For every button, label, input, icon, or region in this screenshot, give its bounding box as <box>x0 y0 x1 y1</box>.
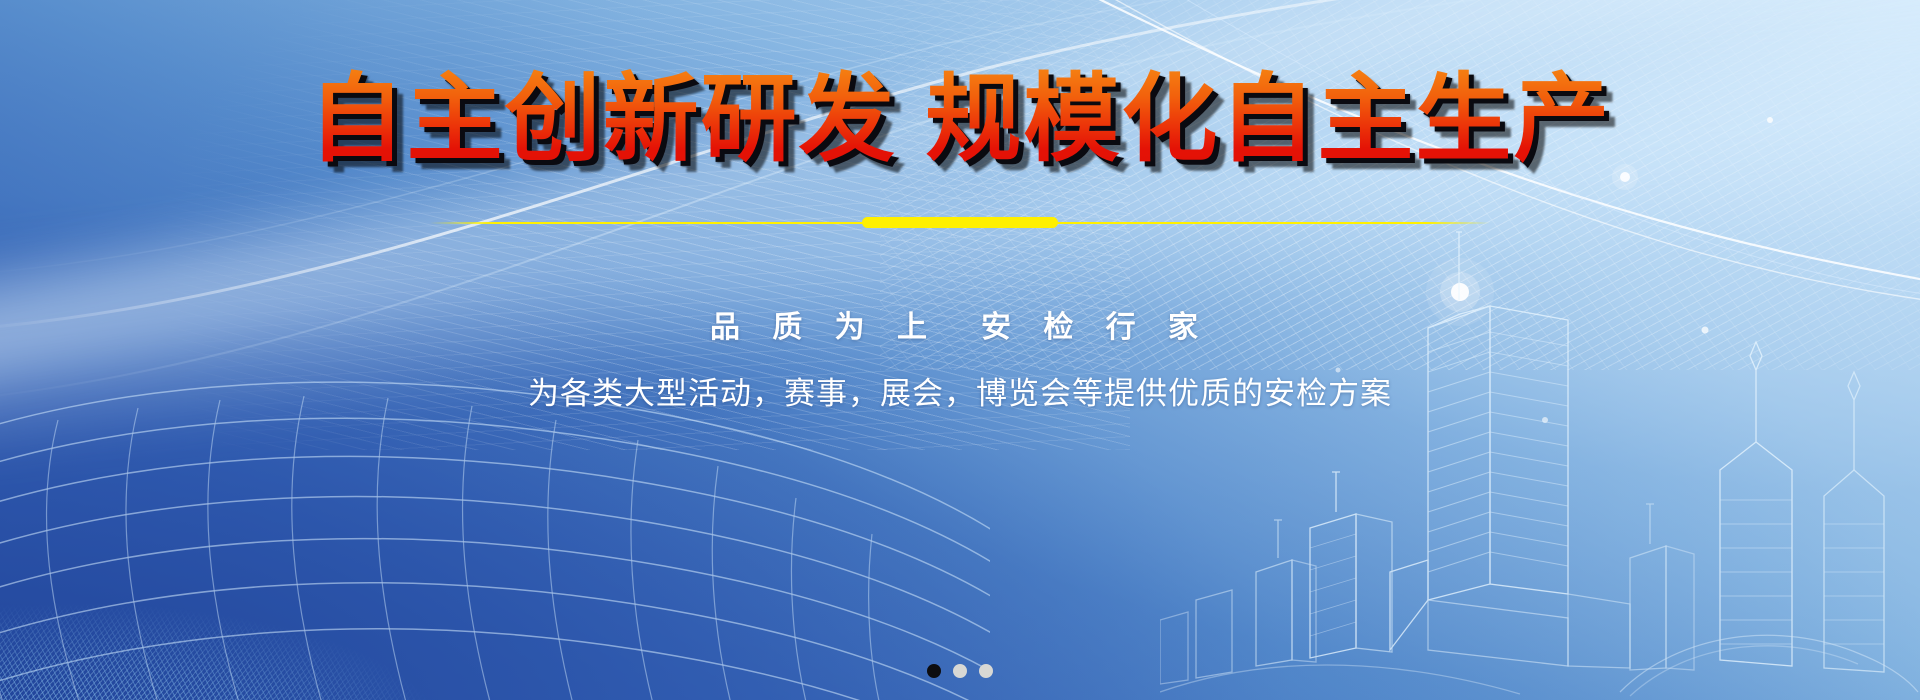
banner-subtitle-description: 为各类大型活动，赛事，展会，博览会等提供优质的安检方案 <box>528 368 1392 413</box>
yellow-divider <box>430 216 1490 230</box>
banner-subtitle-main: 品 质 为 上 安 检 行 家 <box>710 302 1210 346</box>
divider-thick-segment <box>862 217 1058 228</box>
banner-headline: 自主创新研发 规模化自主生产 <box>309 68 1612 172</box>
banner-content: 自主创新研发 规模化自主生产 品 质 为 上 安 检 行 家 为各类大型活动，赛… <box>0 0 1920 700</box>
hero-banner: 自主创新研发 规模化自主生产 品 质 为 上 安 检 行 家 为各类大型活动，赛… <box>0 0 1920 700</box>
